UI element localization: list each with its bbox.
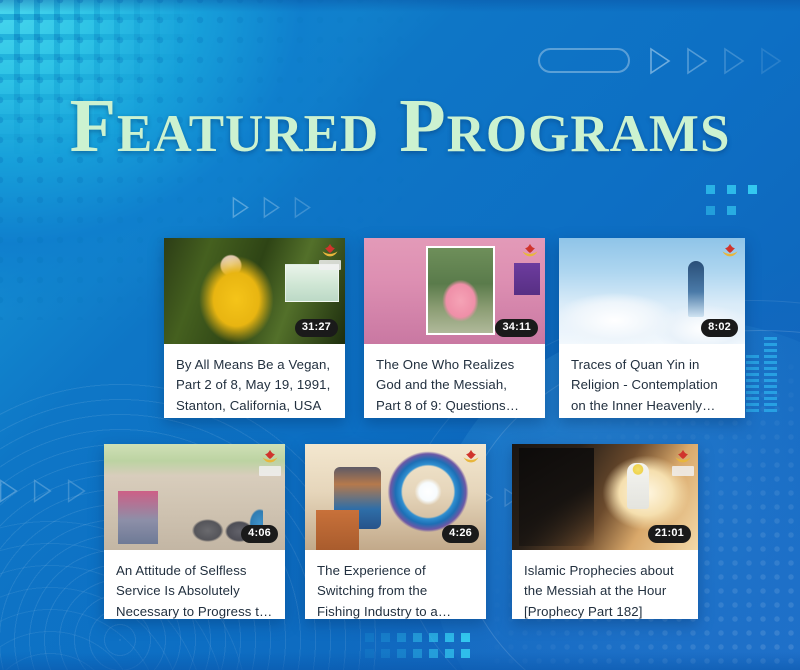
play-triangle-icon	[0, 478, 19, 504]
program-thumbnail[interactable]: 31:27	[164, 238, 345, 344]
top-edge-shade	[0, 0, 800, 12]
program-card[interactable]: 4:26 The Experience of Switching from th…	[305, 444, 486, 619]
lotus-logo-icon	[520, 242, 540, 259]
program-thumbnail[interactable]: 4:26	[305, 444, 486, 550]
play-triangle-icon	[293, 196, 312, 219]
page-title: Featured Programs	[0, 88, 800, 164]
program-title: By All Means Be a Vegan, Part 2 of 8, Ma…	[164, 344, 345, 418]
program-title: The Experience of Switching from the Fis…	[305, 550, 486, 619]
program-thumbnail[interactable]: 4:06	[104, 444, 285, 550]
program-card[interactable]: 8:02 Traces of Quan Yin in Religion - Co…	[559, 238, 745, 418]
play-triangle-icon	[32, 478, 53, 504]
lotus-logo-icon	[260, 448, 280, 465]
duration-badge: 31:27	[295, 319, 338, 337]
square-dots-right	[706, 185, 757, 215]
program-card[interactable]: 4:06 An Attitude of Selfless Service Is …	[104, 444, 285, 619]
lotus-logo-icon	[461, 448, 481, 465]
lotus-logo-icon	[320, 242, 340, 259]
play-triangle-icon	[759, 47, 783, 75]
duration-badge: 4:06	[241, 525, 278, 543]
program-title: The One Who Realizes God and the Messiah…	[364, 344, 545, 418]
rounded-pill-outline-icon	[538, 48, 630, 73]
program-title: An Attitude of Selfless Service Is Absol…	[104, 550, 285, 619]
lotus-logo-icon	[673, 448, 693, 465]
program-card[interactable]: 21:01 Islamic Prophecies about the Messi…	[512, 444, 698, 619]
play-triangle-icon	[648, 47, 672, 75]
program-title: Traces of Quan Yin in Religion - Contemp…	[559, 344, 745, 418]
program-title: Islamic Prophecies about the Messiah at …	[512, 550, 698, 619]
play-triangle-icon	[685, 47, 709, 75]
duration-badge: 21:01	[648, 525, 691, 543]
program-thumbnail[interactable]: 8:02	[559, 238, 745, 344]
equalizer-column	[746, 355, 759, 412]
program-thumbnail[interactable]: 34:11	[364, 238, 545, 344]
program-card[interactable]: 34:11 The One Who Realizes God and the M…	[364, 238, 545, 418]
thumbnail-sub-badge	[259, 466, 281, 476]
duration-badge: 4:26	[442, 525, 479, 543]
play-triangle-icon	[262, 196, 281, 219]
play-triangle-icon	[66, 478, 87, 504]
program-card[interactable]: 31:27 By All Means Be a Vegan, Part 2 of…	[164, 238, 345, 418]
featured-programs-banner: Featured Programs 31:27 By All Means Be …	[0, 0, 800, 670]
thumbnail-sub-badge	[319, 260, 341, 270]
duration-badge: 8:02	[701, 319, 738, 337]
play-triangle-icon	[231, 196, 250, 219]
equalizer-column	[764, 337, 777, 412]
thumbnail-sub-badge	[672, 466, 694, 476]
square-dots-bottom	[365, 633, 470, 658]
lotus-logo-icon	[720, 242, 740, 259]
duration-badge: 34:11	[495, 319, 538, 337]
program-thumbnail[interactable]: 21:01	[512, 444, 698, 550]
play-triangle-icon	[722, 47, 746, 75]
